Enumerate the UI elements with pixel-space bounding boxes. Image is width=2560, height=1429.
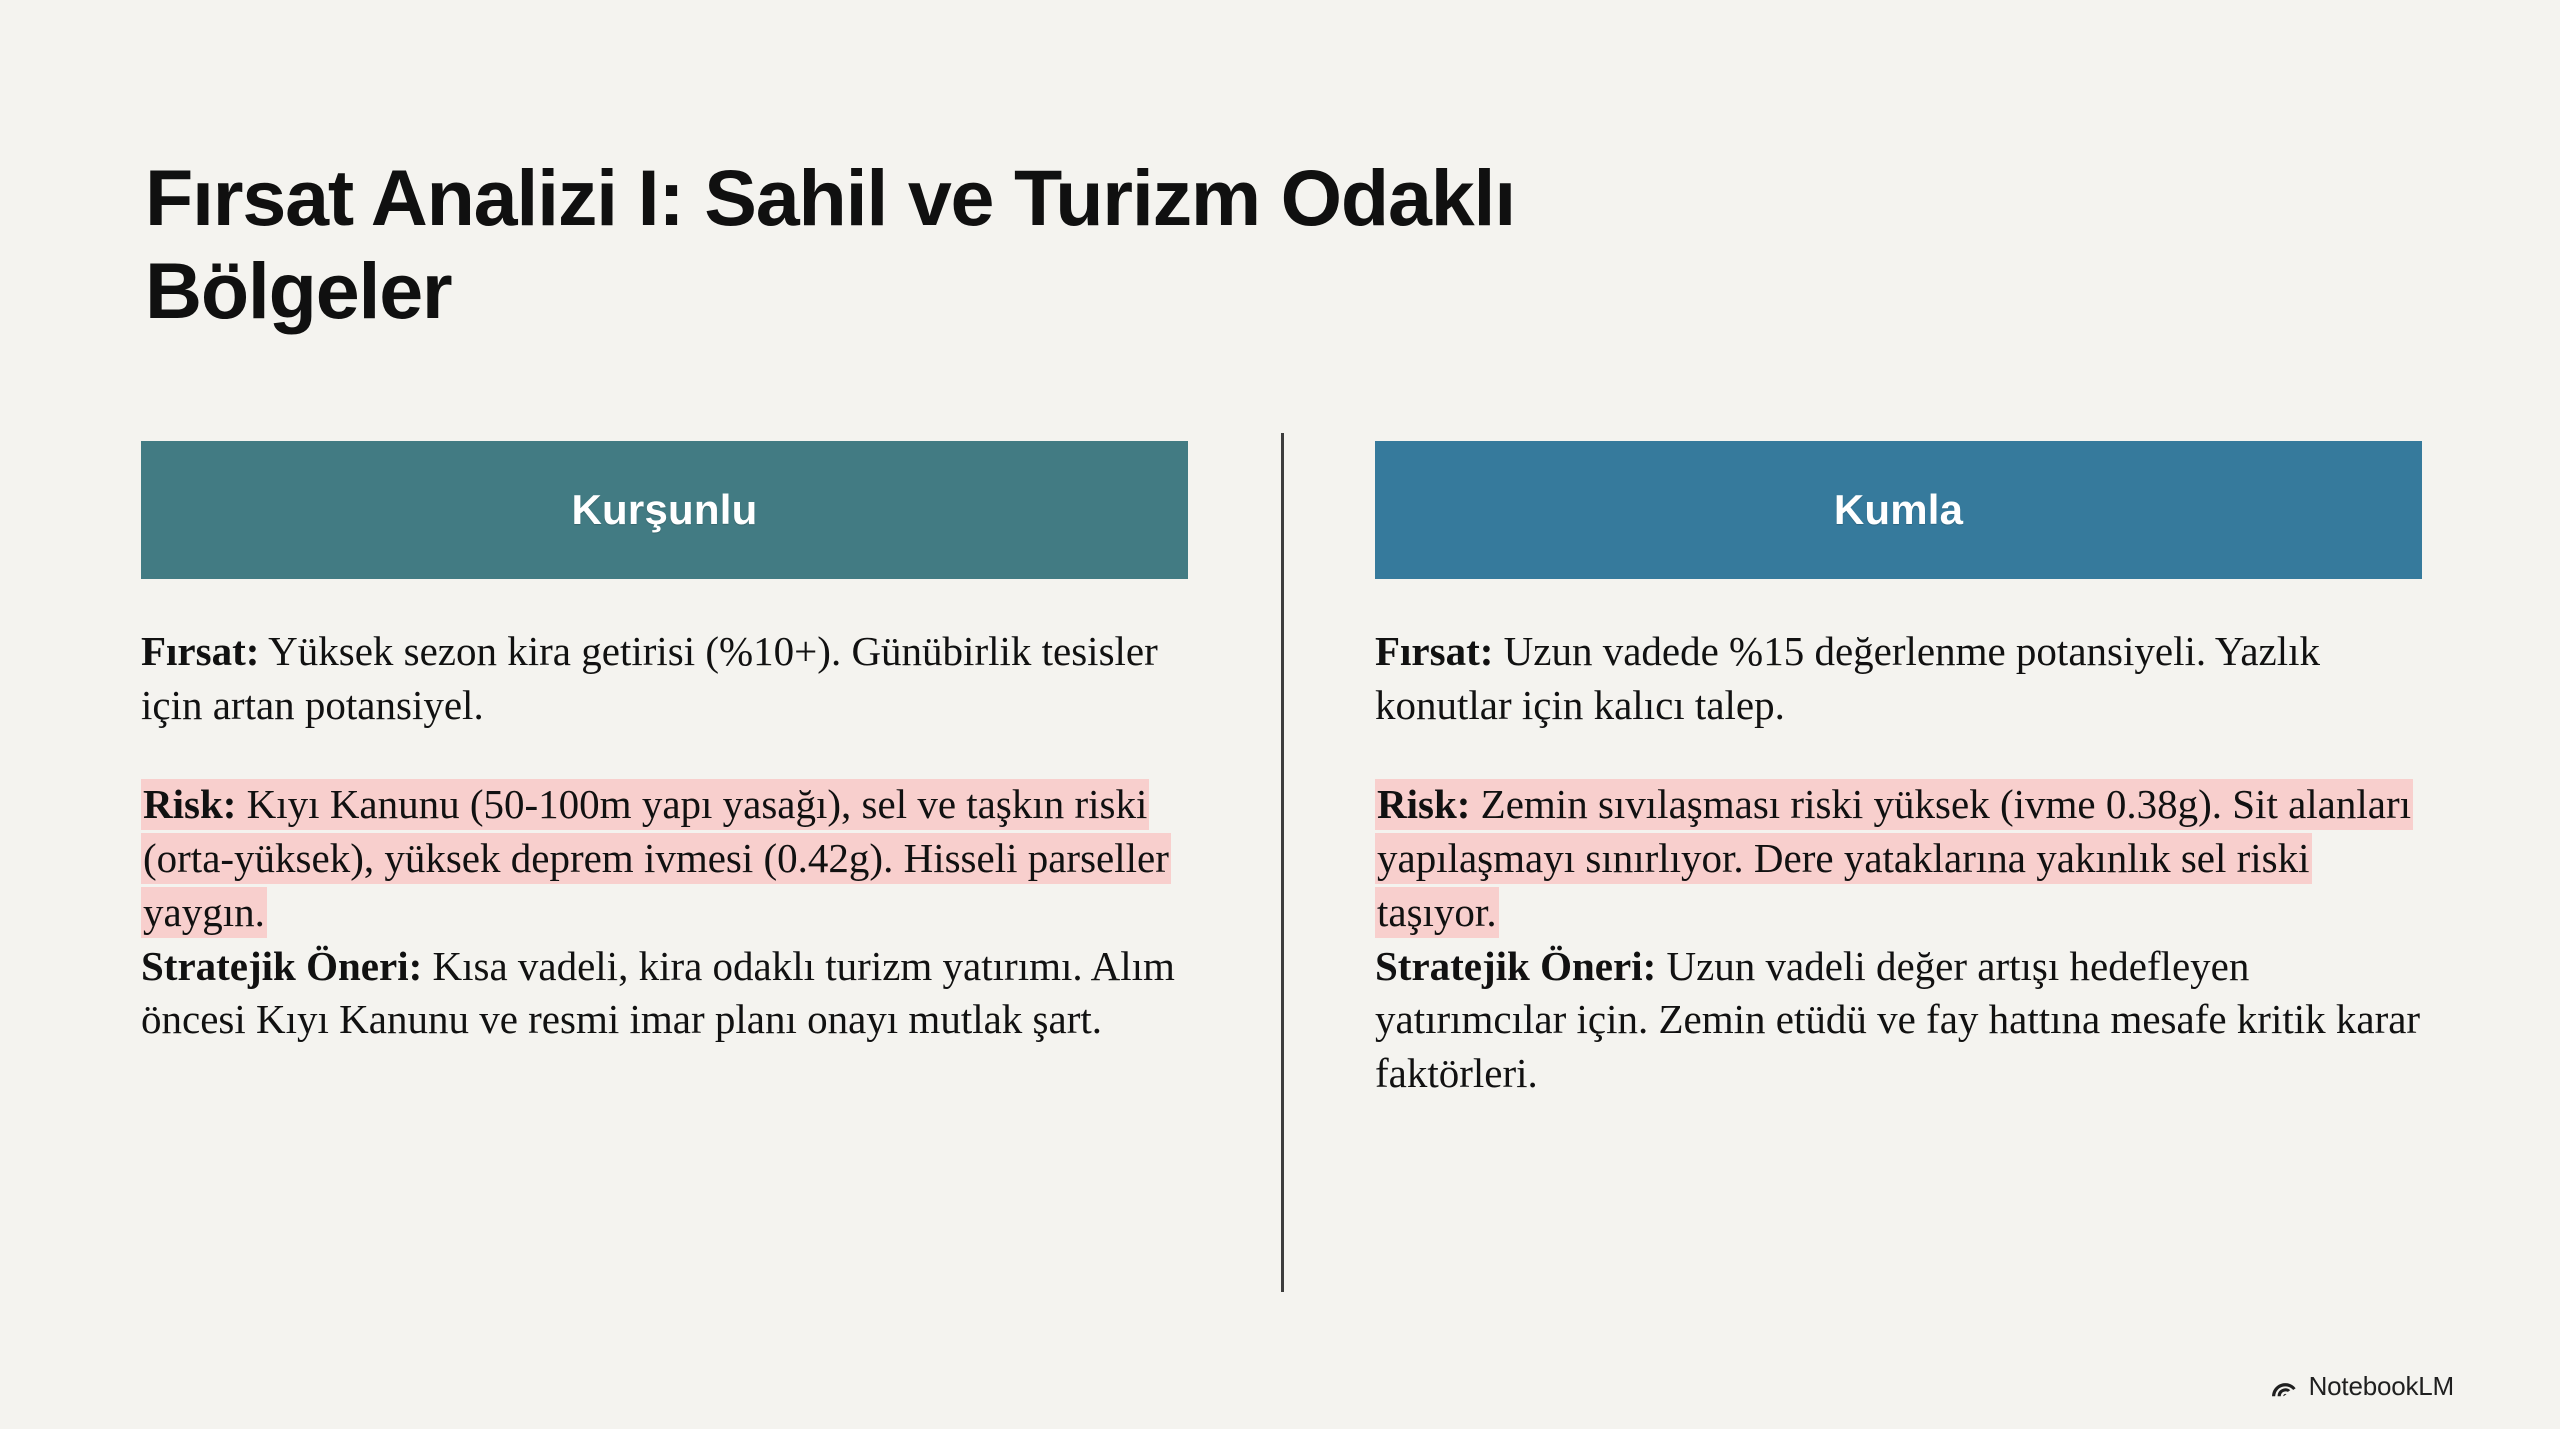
paragraph-text: Zemin sıvılaşması riski yüksek (ivme 0.3… bbox=[1377, 781, 2411, 934]
column-divider bbox=[1281, 433, 1284, 1292]
paragraph-firsat: Fırsat: Uzun vadede %15 değerlenme potan… bbox=[1375, 625, 2422, 732]
notebooklm-spiral-icon bbox=[2269, 1372, 2299, 1402]
column-kumla: Kumla Fırsat: Uzun vadede %15 değerlenme… bbox=[1375, 441, 2422, 1101]
paragraph-strategy: Stratejik Öneri: Uzun vadeli değer artış… bbox=[1375, 940, 2422, 1101]
paragraph-strategy: Stratejik Öneri: Kısa vadeli, kira odakl… bbox=[141, 940, 1188, 1047]
column-header-kursunlu: Kurşunlu bbox=[141, 441, 1188, 579]
column-header-label: Kumla bbox=[1834, 486, 1963, 534]
notebooklm-brand: NotebookLM bbox=[2269, 1371, 2454, 1402]
paragraph-risk: Risk: Kıyı Kanunu (50-100m yapı yasağı),… bbox=[141, 781, 1171, 934]
column-header-label: Kurşunlu bbox=[572, 486, 758, 534]
paragraph-text: Kıyı Kanunu (50-100m yapı yasağı), sel v… bbox=[143, 781, 1169, 934]
paragraph-text: Yüksek sezon kira getirisi (%10+). Günüb… bbox=[141, 628, 1158, 728]
paragraph-lead: Fırsat: bbox=[141, 628, 259, 674]
notebooklm-label: NotebookLM bbox=[2309, 1371, 2454, 1402]
paragraph-firsat: Fırsat: Yüksek sezon kira getirisi (%10+… bbox=[141, 625, 1188, 732]
paragraph-lead: Fırsat: bbox=[1375, 628, 1493, 674]
column-header-kumla: Kumla bbox=[1375, 441, 2422, 579]
column-body-kursunlu: Fırsat: Yüksek sezon kira getirisi (%10+… bbox=[141, 625, 1188, 1047]
column-body-kumla: Fırsat: Uzun vadede %15 değerlenme potan… bbox=[1375, 625, 2422, 1101]
paragraph-lead: Risk: bbox=[1377, 781, 1470, 827]
comparison-columns: Kurşunlu Fırsat: Yüksek sezon kira getir… bbox=[0, 0, 2560, 1429]
column-kursunlu: Kurşunlu Fırsat: Yüksek sezon kira getir… bbox=[141, 441, 1188, 1047]
paragraph-lead: Risk: bbox=[143, 781, 236, 827]
slide-root: Fırsat Analizi I: Sahil ve Turizm Odaklı… bbox=[0, 0, 2560, 1429]
paragraph-lead: Stratejik Öneri: bbox=[1375, 943, 1656, 989]
paragraph-text: Uzun vadede %15 değerlenme potansiyeli. … bbox=[1375, 628, 2320, 728]
paragraph-lead: Stratejik Öneri: bbox=[141, 943, 422, 989]
paragraph-risk: Risk: Zemin sıvılaşması riski yüksek (iv… bbox=[1375, 781, 2413, 934]
